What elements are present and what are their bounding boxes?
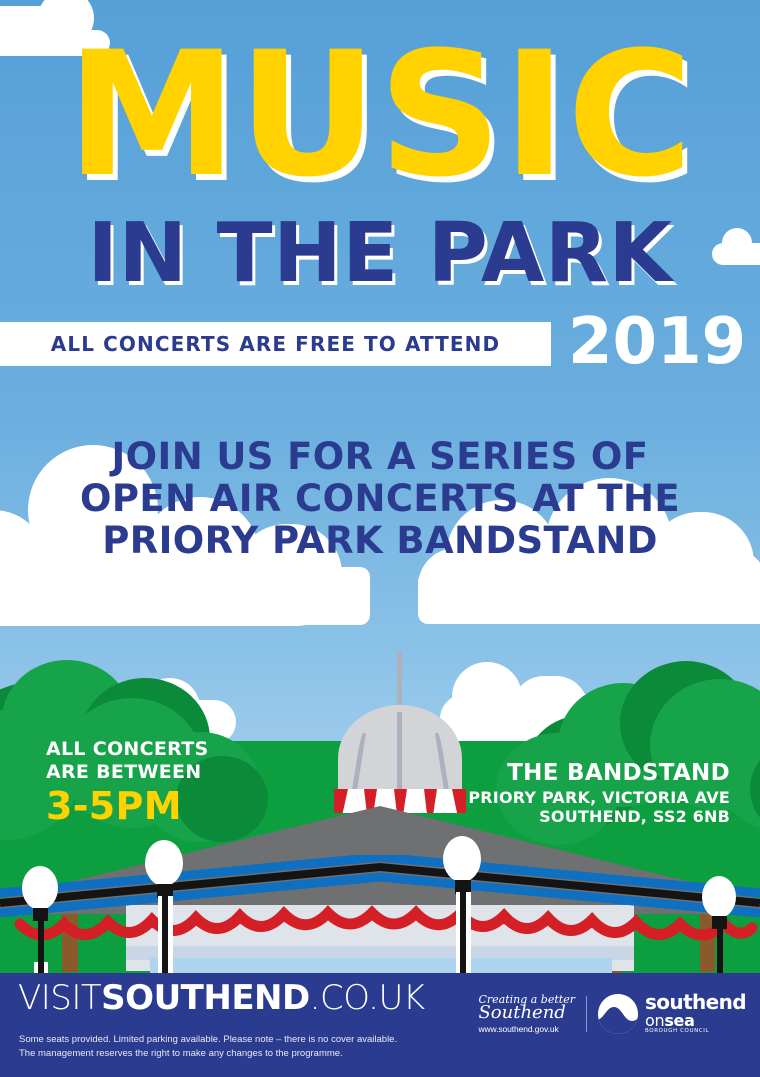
venue-block: THE BANDSTAND PRIORY PARK, VICTORIA AVE … — [468, 760, 730, 827]
venue-name: THE BANDSTAND — [468, 760, 730, 788]
tagline-line-2: Southend — [478, 1004, 575, 1023]
lamp-globe — [22, 866, 58, 910]
wave-logo-icon — [598, 994, 638, 1034]
fine-print-line-2: The management reserves the right to mak… — [19, 1047, 397, 1061]
council-wordmark: southend onsea BOROUGH COUNCIL — [645, 993, 746, 1035]
times-value: 3-5PM — [46, 787, 208, 827]
wordmark-on: on — [645, 1011, 664, 1030]
subtitle-line-3: PRIORY PARK BANDSTAND — [0, 520, 760, 562]
southend-on-sea-logo: southend onsea BOROUGH COUNCIL — [598, 993, 746, 1035]
wordmark-borough-council: BOROUGH COUNCIL — [645, 1029, 746, 1034]
times-line-1: ALL CONCERTS — [46, 738, 208, 761]
visit-southend-url[interactable]: VISITSOUTHEND.CO.UK — [18, 981, 425, 1015]
bandstand-railing — [0, 855, 760, 919]
subtitle-line-1: JOIN US FOR A SERIES OF — [0, 436, 760, 478]
creating-a-better-southend-lockup: Creating a better Southend www.southend.… — [478, 994, 575, 1034]
council-website: www.southend.gov.uk — [478, 1025, 575, 1034]
bandstand-floor — [150, 958, 612, 973]
lamp-globe — [702, 876, 736, 918]
venue-address-line-1: PRIORY PARK, VICTORIA AVE — [468, 788, 730, 808]
url-part-visit: VISIT — [18, 978, 101, 1018]
url-part-tld: .CO.UK — [310, 978, 425, 1018]
times-line-2: ARE BETWEEN — [46, 761, 208, 784]
lamp-globe — [145, 840, 183, 886]
lamp-globe — [443, 836, 481, 882]
brand-block: Creating a better Southend www.southend.… — [478, 993, 746, 1035]
poster-subtitle: JOIN US FOR A SERIES OF OPEN AIR CONCERT… — [0, 436, 760, 561]
subtitle-line-2: OPEN AIR CONCERTS AT THE — [0, 478, 760, 520]
fine-print: Some seats provided. Limited parking ava… — [19, 1033, 397, 1061]
venue-address-line-2: SOUTHEND, SS2 6NB — [468, 807, 730, 827]
bandstand-dome-rib — [397, 712, 402, 798]
url-part-southend: SOUTHEND — [101, 978, 310, 1018]
poster-canvas: MUSIC IN THE PARK ALL CONCERTS ARE FREE … — [0, 0, 760, 1077]
wordmark-on-sea: onsea — [645, 1013, 746, 1029]
brand-divider — [586, 996, 587, 1032]
fine-print-line-1: Some seats provided. Limited parking ava… — [19, 1033, 397, 1047]
footer-bar: VISITSOUTHEND.CO.UK Some seats provided.… — [0, 973, 760, 1077]
wordmark-sea: sea — [664, 1011, 694, 1030]
concert-times-block: ALL CONCERTS ARE BETWEEN 3-5PM — [46, 738, 208, 827]
